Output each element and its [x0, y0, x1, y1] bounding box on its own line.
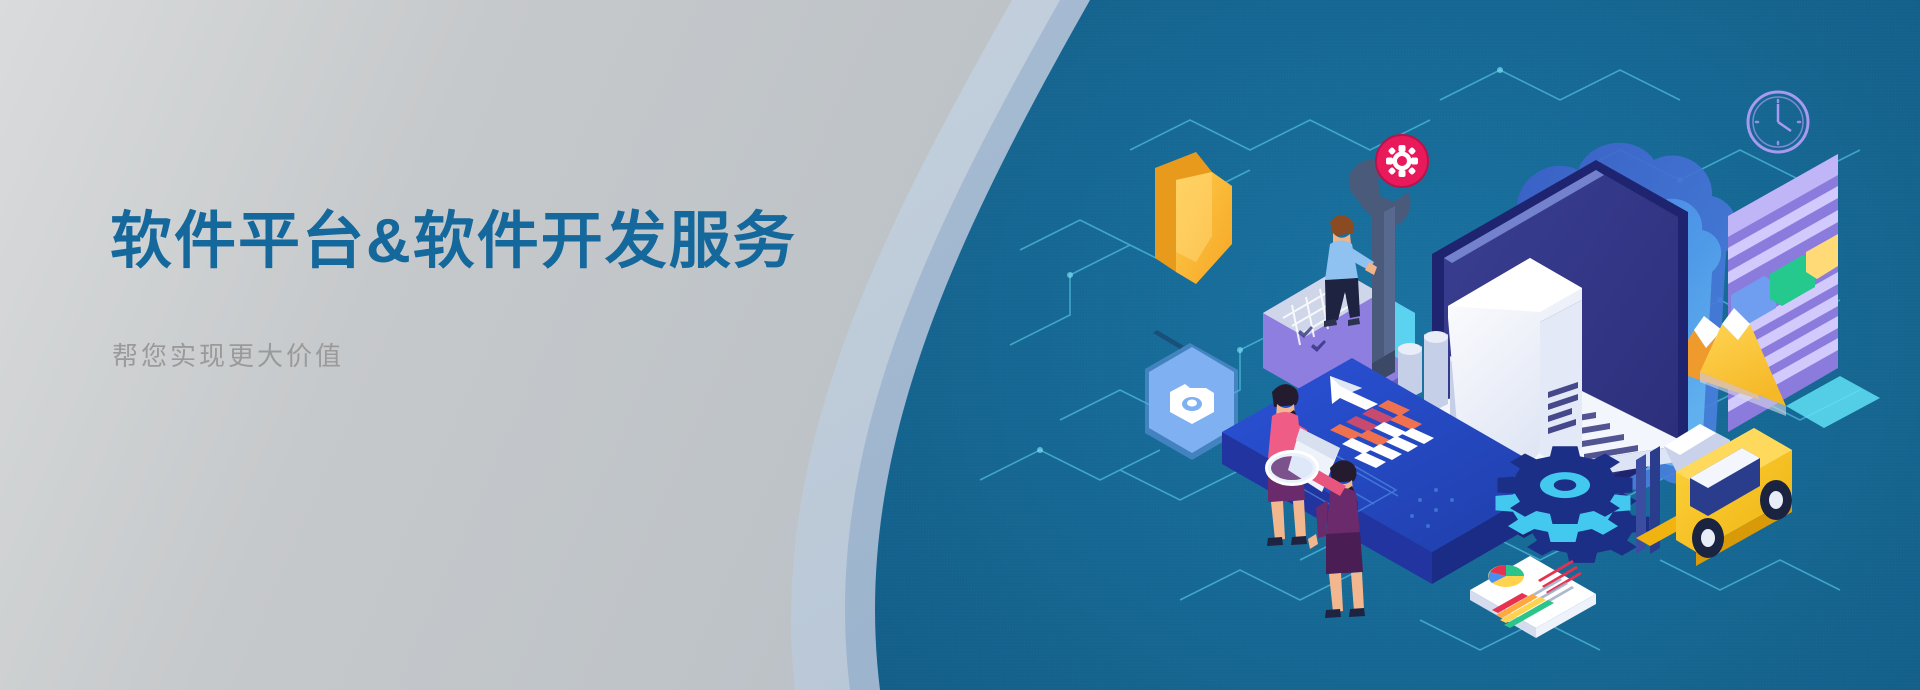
- news-card-icon: [1470, 556, 1596, 638]
- hero-banner: 软件平台&软件开发服务 帮您实现更大价值: [0, 0, 1920, 690]
- shield-icon: [1155, 152, 1232, 284]
- page-subtitle: 帮您实现更大价值: [112, 336, 930, 373]
- gear-badge-icon: [1376, 135, 1428, 187]
- hero-copy: 软件平台&软件开发服务 帮您实现更大价值: [110, 205, 930, 373]
- pie-chart-icon: [1488, 565, 1524, 587]
- clock-icon: [1748, 92, 1808, 152]
- page-title: 软件平台&软件开发服务: [110, 205, 930, 278]
